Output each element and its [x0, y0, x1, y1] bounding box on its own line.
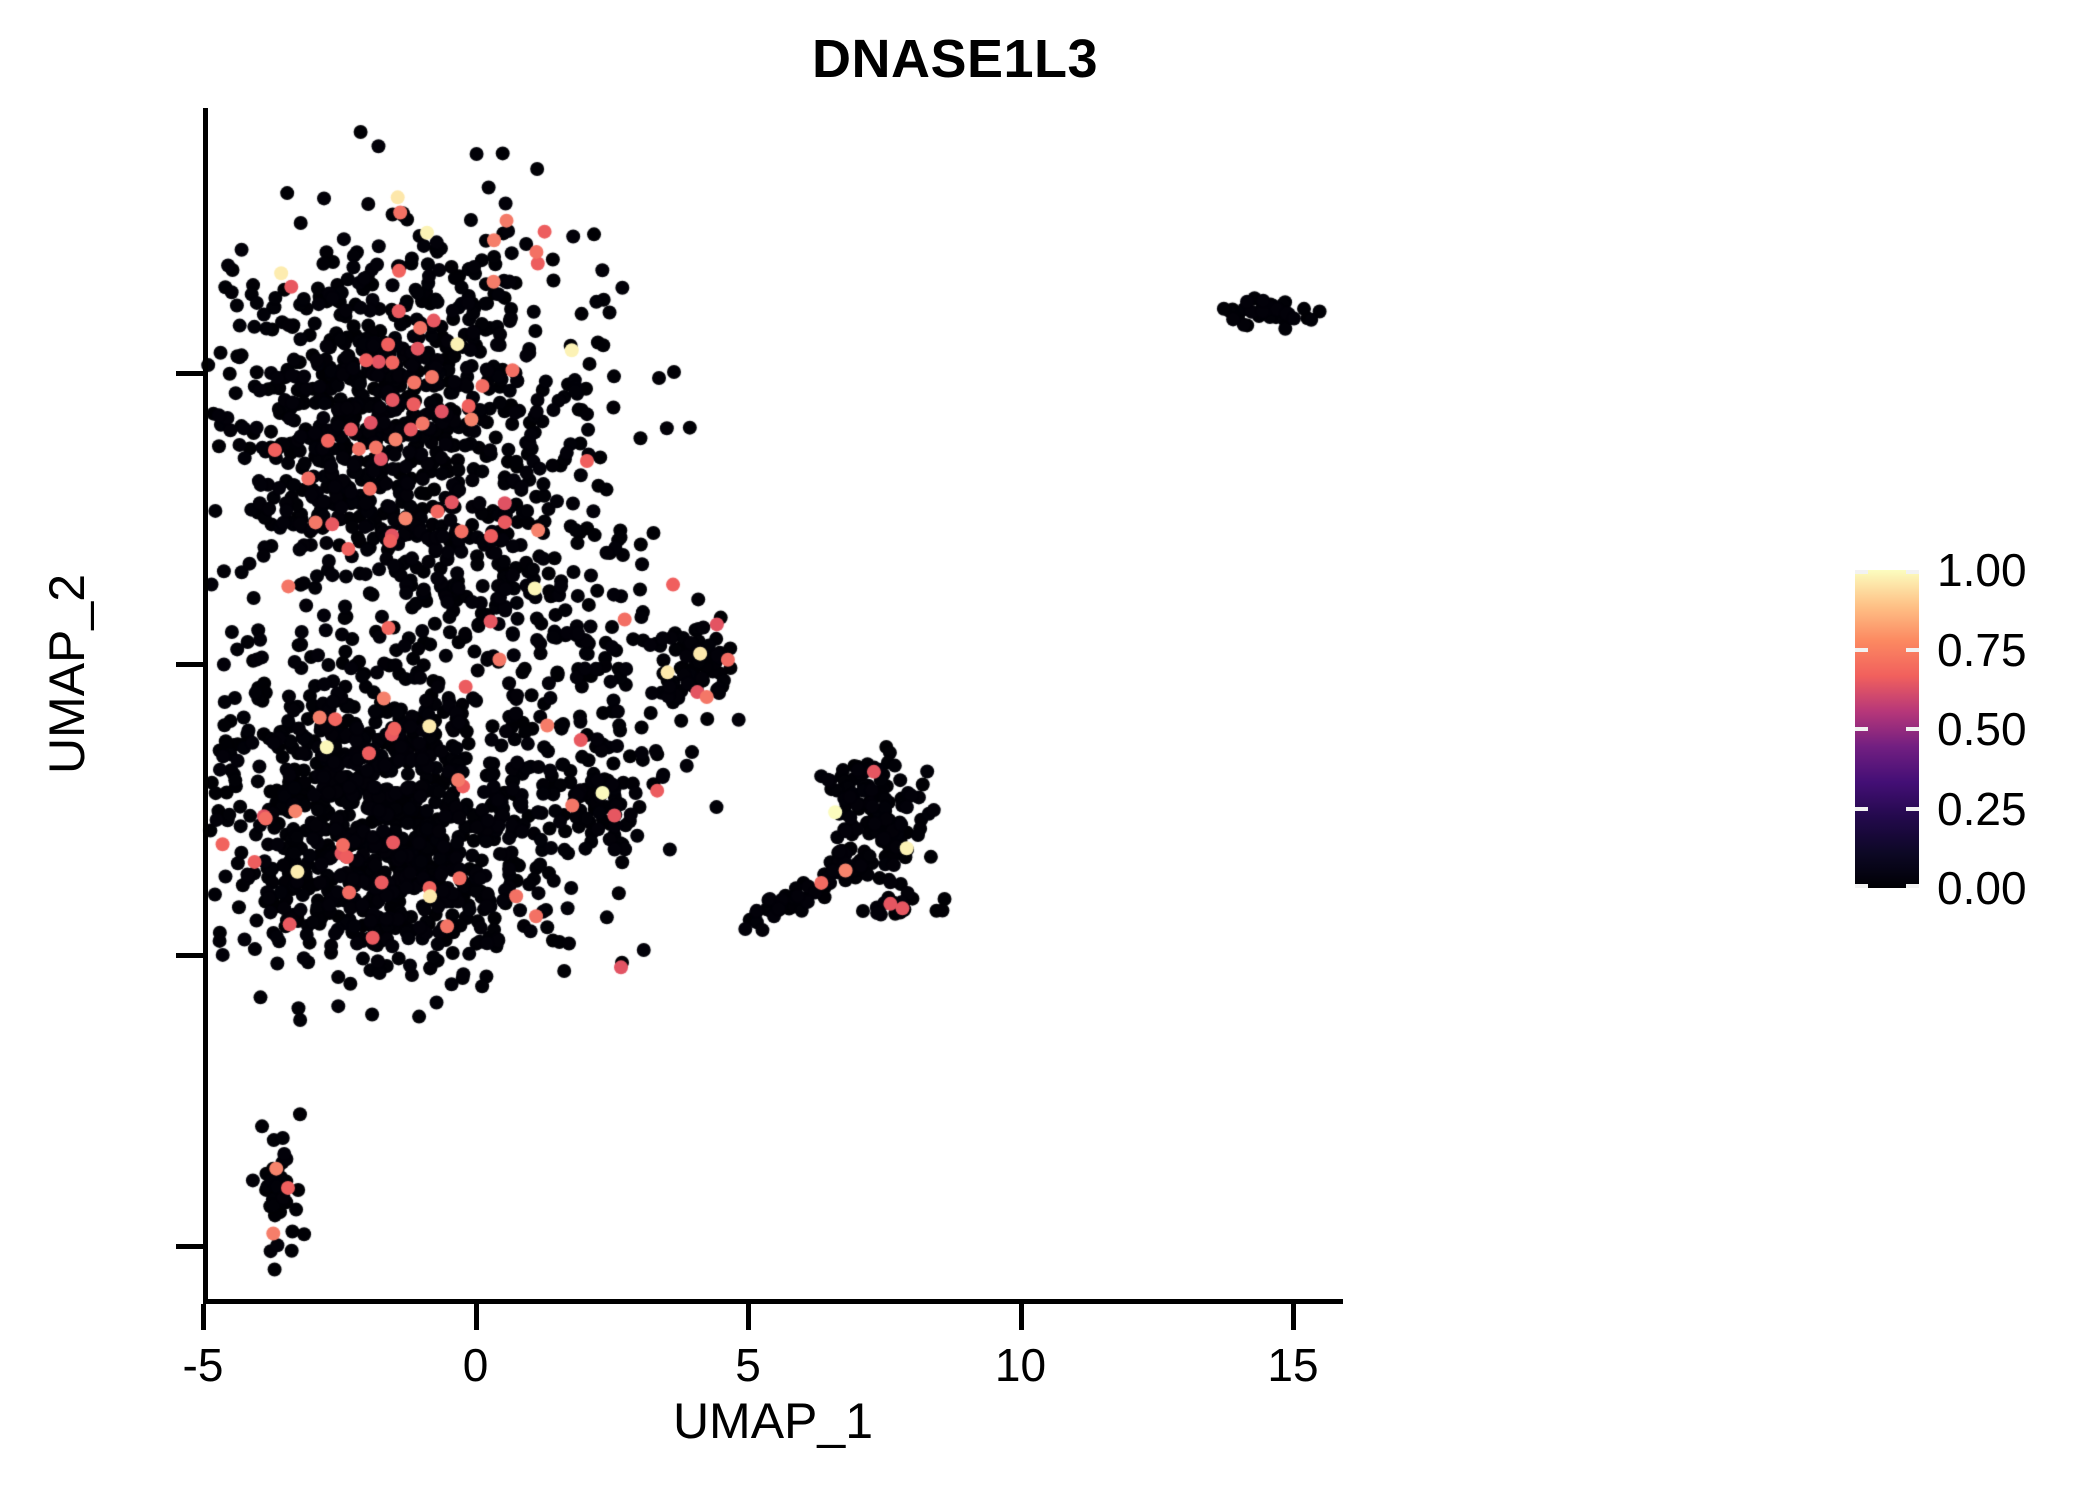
y-tick-mark [176, 662, 204, 667]
x-axis-title: UMAP_1 [203, 1392, 1343, 1450]
colorbar-tick-label: 0.50 [1937, 702, 2027, 756]
colorbar-tick-mark [1855, 648, 1868, 652]
x-tick-mark [746, 1304, 751, 1330]
umap-figure: DNASE1L3 1050-5 -5051015 UMAP_1 UMAP_2 1… [0, 0, 2100, 1500]
x-tick-mark [474, 1304, 479, 1330]
colorbar-tick-label: 0.75 [1937, 623, 2027, 677]
y-tick-mark [176, 953, 204, 958]
colorbar-tick-label: 0.25 [1937, 782, 2027, 836]
scatter-points-layer [0, 0, 2100, 1500]
page-title: DNASE1L3 [0, 28, 2100, 90]
colorbar-tick-mark [1906, 648, 1919, 652]
y-axis-title: UMAP_2 [38, 324, 96, 1024]
x-tick-label: 5 [735, 1338, 761, 1392]
colorbar-tick-mark [1906, 727, 1919, 731]
colorbar-tick-mark [1906, 807, 1919, 811]
x-tick-mark [1019, 1304, 1024, 1330]
colorbar-tick-mark [1855, 727, 1868, 731]
colorbar-tick-mark [1906, 884, 1919, 888]
x-axis-line [203, 1299, 1343, 1304]
y-tick-mark [176, 1244, 204, 1249]
plot-panel [0, 0, 2100, 1500]
colorbar-tick-mark [1855, 884, 1868, 888]
colorbar-tick-mark [1906, 570, 1919, 574]
x-tick-label: -5 [183, 1338, 224, 1392]
colorbar-tick-label: 0.00 [1937, 861, 2027, 915]
colorbar-tick-mark [1855, 807, 1868, 811]
x-tick-label: 0 [463, 1338, 489, 1392]
x-tick-mark [201, 1304, 206, 1330]
x-tick-label: 10 [995, 1338, 1046, 1392]
y-axis-line [203, 108, 208, 1304]
colorbar-tick-label: 1.00 [1937, 543, 2027, 597]
y-tick-mark [176, 371, 204, 376]
colorbar-tick-mark [1855, 570, 1868, 574]
x-tick-label: 15 [1267, 1338, 1318, 1392]
x-tick-mark [1291, 1304, 1296, 1330]
